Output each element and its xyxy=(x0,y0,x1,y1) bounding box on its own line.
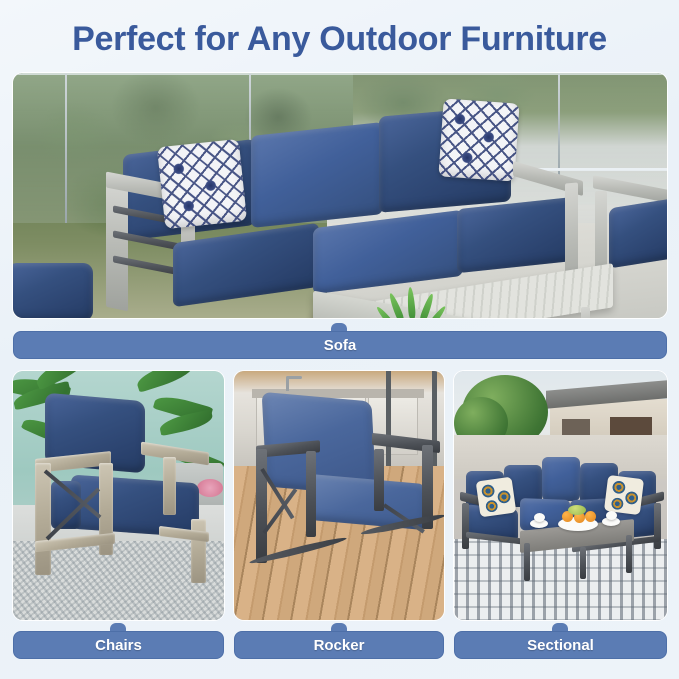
panel-image-sectional xyxy=(454,371,667,620)
potted-plant xyxy=(385,289,441,318)
chair-leg-right-back xyxy=(163,457,176,515)
label-chairs[interactable]: Chairs xyxy=(13,631,224,659)
medallion-pillow xyxy=(604,475,644,515)
plant-leaf xyxy=(387,292,405,318)
infographic-page: Perfect for Any Outdoor Furniture xyxy=(0,0,679,679)
table-leg xyxy=(580,547,586,579)
pillow-medallion xyxy=(484,499,499,514)
chair-leg-right-front xyxy=(191,519,206,583)
orange-fruit xyxy=(585,511,596,522)
pillow-pattern xyxy=(157,139,247,229)
sofa-scene xyxy=(13,73,667,318)
pillow-medallion xyxy=(611,480,627,496)
pillow-medallion xyxy=(480,483,496,499)
pillow-medallion xyxy=(610,497,624,511)
rocker-scene xyxy=(234,371,444,620)
green-grapes xyxy=(568,505,586,515)
page-title: Perfect for Any Outdoor Furniture xyxy=(0,18,679,60)
teacup xyxy=(606,511,617,520)
table-leg xyxy=(581,307,590,318)
sectional-back-cushion xyxy=(542,457,580,501)
left-chair-cushion xyxy=(13,263,93,318)
kitchen-faucet-spout xyxy=(286,376,302,379)
sectional-leg xyxy=(462,503,469,549)
title-container: Perfect for Any Outdoor Furniture xyxy=(0,18,679,60)
patterned-rug xyxy=(454,539,667,620)
pillow-pattern xyxy=(438,98,519,181)
railing-post xyxy=(65,73,67,223)
pillow-medallion xyxy=(624,490,640,506)
sofa-arm-frame xyxy=(106,181,128,312)
flower-cluster xyxy=(197,479,223,497)
plant-leaf xyxy=(418,293,435,318)
chair-leg-front xyxy=(35,463,51,575)
pillow-medallion xyxy=(496,489,512,505)
table-leg xyxy=(626,535,632,573)
side-chair-cushion xyxy=(609,197,667,268)
rocker-post-back-left xyxy=(306,451,316,537)
sectional-scene xyxy=(454,371,667,620)
plant-leaf xyxy=(407,287,416,318)
teacup xyxy=(534,513,545,522)
sofa-seat-cushion xyxy=(457,197,575,273)
kitchen-faucet xyxy=(286,377,289,391)
panel-image-sofa xyxy=(13,73,667,318)
panel-image-chairs xyxy=(13,371,224,620)
label-rocker[interactable]: Rocker xyxy=(234,631,444,659)
rocker-post-back-right xyxy=(374,449,384,511)
railing-post xyxy=(558,73,560,178)
chairs-scene xyxy=(13,371,224,620)
throw-pillow xyxy=(157,139,247,229)
sofa-back-cushion xyxy=(251,122,383,228)
medallion-pillow xyxy=(476,477,517,518)
table-leg xyxy=(524,543,530,581)
rocker-post-front-left xyxy=(256,449,267,563)
label-sofa[interactable]: Sofa xyxy=(13,331,667,359)
label-sectional[interactable]: Sectional xyxy=(454,631,667,659)
throw-pillow xyxy=(438,98,519,181)
panel-image-rocker xyxy=(234,371,444,620)
